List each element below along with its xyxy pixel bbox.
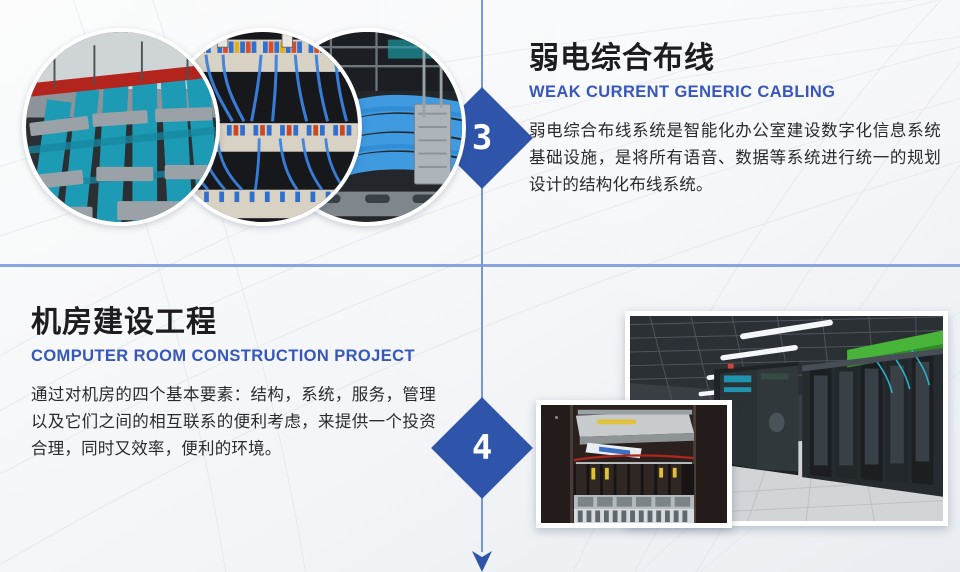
photo-server-rack-closeup xyxy=(536,400,732,528)
down-arrow-icon xyxy=(468,546,496,572)
step-badge-4-number: 4 xyxy=(472,431,492,465)
infographic-page: 弱电综合布线 WEAK CURRENT GENERIC CABLING 弱电综合… xyxy=(0,0,960,572)
section-3-title-cn: 弱电综合布线 xyxy=(529,42,941,77)
step-badge-3-number: 3 xyxy=(472,121,492,155)
photo-group-cabling xyxy=(0,0,470,264)
section-4-text: 机房建设工程 COMPUTER ROOM CONSTRUCTION PROJEC… xyxy=(31,306,436,462)
section-3-title-en: WEAK CURRENT GENERIC CABLING xyxy=(529,83,941,103)
section-4-body: 通过对机房的四个基本要素：结构，系统，服务，管理以及它们之间的相互联系的便利考虑… xyxy=(31,382,436,462)
photo-cable-tray-teal xyxy=(22,28,220,226)
section-4-title-cn: 机房建设工程 xyxy=(31,306,436,341)
section-4-title-en: COMPUTER ROOM CONSTRUCTION PROJECT xyxy=(31,347,436,367)
section-3-body: 弱电综合布线系统是智能化办公室建设数字化信息系统基础设施，是将所有语音、数据等系… xyxy=(529,118,941,198)
section-3-text: 弱电综合布线 WEAK CURRENT GENERIC CABLING 弱电综合… xyxy=(529,42,941,198)
section-divider xyxy=(0,264,960,267)
